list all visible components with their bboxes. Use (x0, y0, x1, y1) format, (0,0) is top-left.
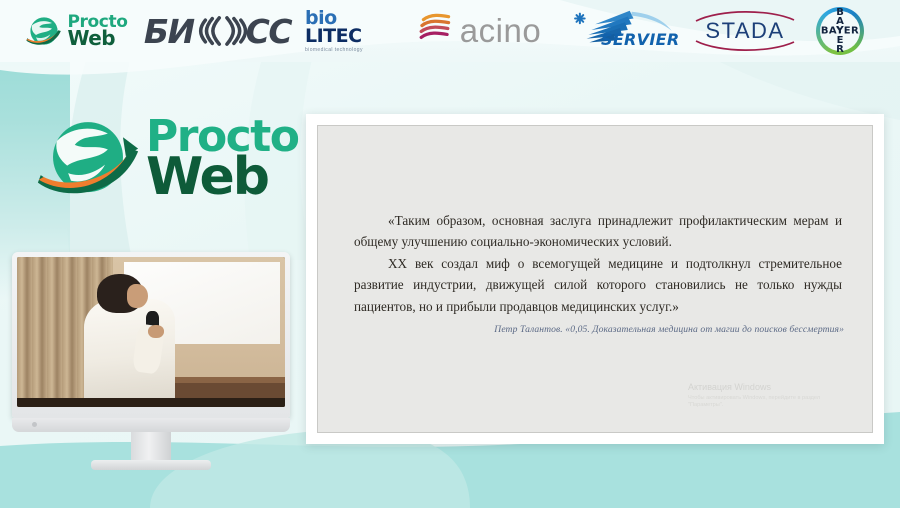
stada-arcs-icon (690, 7, 800, 60)
windows-activation-watermark: Активация Windows Чтобы активировать Win… (688, 382, 848, 410)
sponsor-logo-proctoweb[interactable]: Procto Web (0, 0, 130, 62)
bioss-left-text: БИ (144, 12, 194, 51)
proctoweb-word-2: Web (67, 30, 127, 48)
sponsor-logo-bayer[interactable]: BAYER BAYER (800, 0, 880, 62)
proctoweb-wordmark: Procto Web (67, 15, 127, 48)
watermark-title: Активация Windows (688, 382, 848, 393)
sponsor-logo-strip: Procto Web БИ (0, 0, 900, 62)
bioss-wordmark: БИ СС (144, 12, 291, 51)
video-frame (17, 257, 285, 407)
servier-wordmark: SERVIER (601, 30, 679, 49)
slide-canvas: «Таким образом, основная заслуга принадл… (317, 125, 873, 433)
brand-word-2: Web (146, 155, 299, 199)
biolitec-tagline: biomedical technology (305, 47, 363, 53)
monitor-bezel (12, 252, 290, 418)
globe-icon (24, 11, 64, 51)
sponsor-logo-biolitec[interactable]: bio LITEC biomedical technology (305, 0, 405, 62)
video-screen[interactable] (17, 257, 285, 407)
monitor-stand-base (91, 460, 211, 470)
monitor-power-indicator (32, 422, 37, 427)
video-monitor[interactable] (12, 252, 290, 462)
slide-page: Procto Web БИ (0, 0, 900, 508)
quote-paragraph-1: «Таким образом, основная заслуга принадл… (354, 210, 842, 253)
monitor-chin (12, 418, 290, 432)
quote-attribution: Петр Талантов. «0,05. Доказательная меди… (354, 324, 844, 335)
sponsor-logo-bioss[interactable]: БИ СС (130, 0, 305, 62)
globe-icon (36, 107, 140, 211)
watermark-subtitle: Чтобы активировать Windows, перейдите в … (688, 395, 848, 410)
slide-quote: «Таким образом, основная заслуга принадл… (354, 210, 842, 317)
proctoweb-logo-large[interactable]: Procto Web (36, 104, 286, 214)
sponsor-logo-servier[interactable]: SERVIER (555, 0, 690, 62)
slide-card: «Таким образом, основная заслуга принадл… (306, 114, 884, 444)
sponsor-logo-acino[interactable]: acino (405, 0, 555, 62)
proctoweb-wordmark: Procto Web (146, 119, 299, 199)
bioss-right-text: СС (246, 12, 291, 51)
bayer-horizontal-word: BAYER (821, 26, 859, 37)
sponsor-logo-stada[interactable]: STADA (690, 0, 800, 62)
biolitec-line-2: LITEC (305, 27, 362, 45)
bayer-cross-icon: BAYER BAYER (816, 7, 864, 55)
sound-waves-icon (192, 14, 248, 48)
quote-paragraph-2: XX век создал миф о всемогущей медицине … (354, 253, 842, 317)
acino-mark-icon (419, 12, 453, 50)
acino-wordmark: acino (460, 12, 541, 50)
